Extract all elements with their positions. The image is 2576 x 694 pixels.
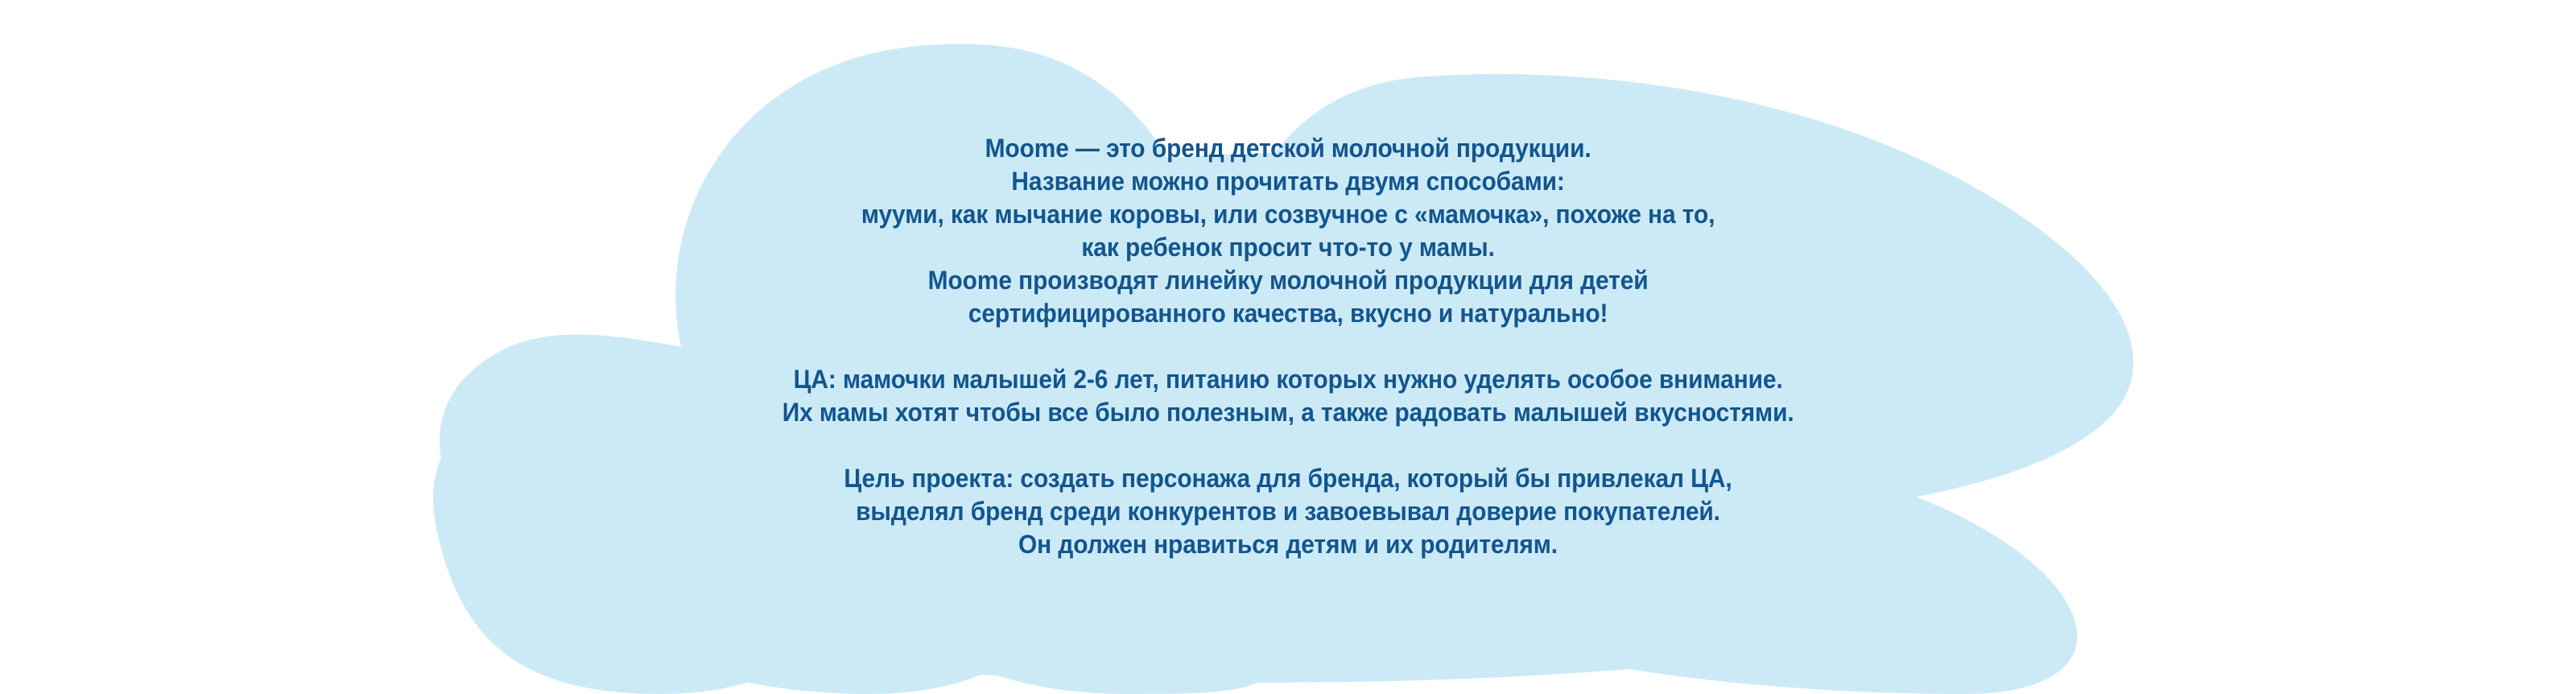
text-line: Их мамы хотят чтобы все было полезным, а… <box>782 396 1794 429</box>
text-line: как ребенок просит что-то у мамы. <box>861 231 1715 264</box>
brief-text-block: Moome — это бренд детской молочной проду… <box>0 0 2576 694</box>
paragraph-target-audience: ЦА: мамочки малышей 2-6 лет, питанию кот… <box>747 363 1829 429</box>
text-line: Moome — это бренд детской молочной проду… <box>861 132 1715 165</box>
slide-canvas: Moome — это бренд детской молочной проду… <box>0 0 2576 694</box>
text-line: сертифицированного качества, вкусно и на… <box>861 297 1715 330</box>
text-line: Цель проекта: создать персонажа для брен… <box>844 462 1732 495</box>
text-line: мууми, как мычание коровы, или созвучное… <box>861 198 1715 231</box>
paragraph-project-goal: Цель проекта: создать персонажа для брен… <box>813 462 1763 561</box>
text-line: выделял бренд среди конкурентов и завоев… <box>844 495 1732 528</box>
text-line: Название можно прочитать двумя способами… <box>861 165 1715 198</box>
paragraph-brand-description: Moome — это бренд детской молочной проду… <box>832 132 1744 330</box>
text-line: Он должен нравиться детям и их родителям… <box>844 528 1732 561</box>
text-line: Moome производят линейку молочной продук… <box>861 264 1715 297</box>
text-line: ЦА: мамочки малышей 2-6 лет, питанию кот… <box>782 363 1794 396</box>
